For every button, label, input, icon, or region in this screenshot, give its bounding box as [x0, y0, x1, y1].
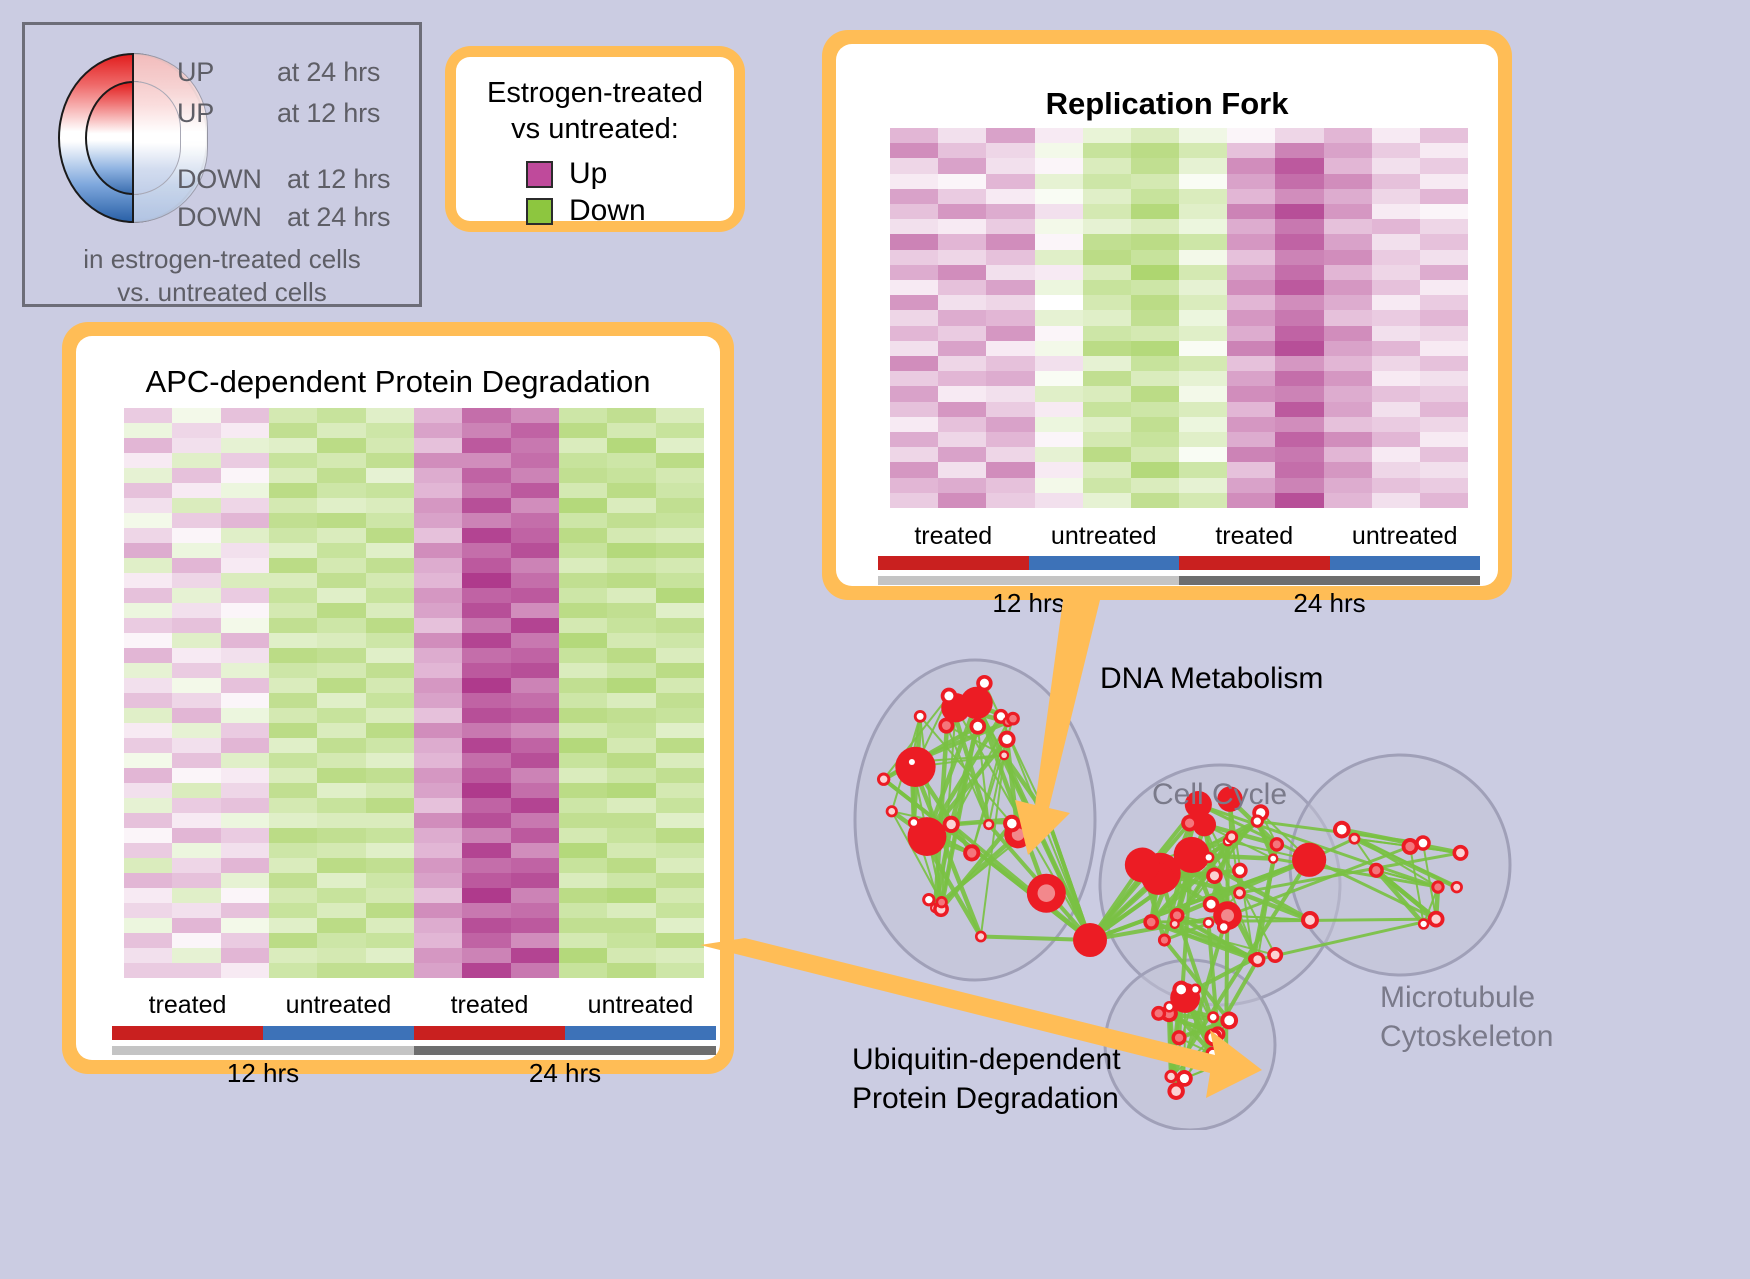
heatmap-cell	[317, 693, 365, 708]
heatmap-cell	[559, 483, 607, 498]
colorwheel-time: at 12 hrs	[287, 164, 390, 194]
heatmap-cell	[124, 648, 172, 663]
heatmap-cell	[414, 903, 462, 918]
heatmap-cell	[1083, 189, 1131, 204]
network-node-core	[1220, 923, 1227, 930]
time-bar-segment	[1179, 576, 1480, 585]
heatmap-cell	[366, 498, 414, 513]
heatmap-cell	[172, 468, 220, 483]
heatmap-cell	[1324, 189, 1372, 204]
heatmap-cell	[938, 128, 986, 143]
heatmap-cell	[511, 558, 559, 573]
heatmap-cell	[414, 933, 462, 948]
heatmap-cell	[1227, 356, 1275, 371]
heatmap-cell	[656, 663, 704, 678]
heatmap-cell	[986, 234, 1034, 249]
heatmap-cell	[511, 723, 559, 738]
cluster-label-cell-cycle: Cell Cycle	[1152, 778, 1287, 812]
heatmap-cell	[124, 873, 172, 888]
heatmap-cell	[559, 423, 607, 438]
heatmap-cell	[890, 478, 938, 493]
heatmap-cell	[511, 843, 559, 858]
heatmap-cell	[656, 618, 704, 633]
network-node-core	[880, 776, 887, 783]
heatmap-cell	[890, 280, 938, 295]
heatmap-cell	[1083, 371, 1131, 386]
heatmap-cell	[1227, 280, 1275, 295]
heatmap-cell	[1131, 462, 1179, 477]
heatmap-cell	[1035, 493, 1083, 508]
heatmap-cell	[1179, 204, 1227, 219]
heatmap-cell	[462, 588, 510, 603]
heatmap-cell	[1324, 432, 1372, 447]
heatmap-cell	[607, 468, 655, 483]
heatmap-cell	[986, 478, 1034, 493]
heatmap-cell	[269, 663, 317, 678]
heatmap-cell	[511, 918, 559, 933]
heatmap-cell	[890, 356, 938, 371]
heatmap-cell	[172, 783, 220, 798]
heatmap-cell	[1372, 128, 1420, 143]
cluster-label-dna-metabolism: DNA Metabolism	[1100, 662, 1323, 696]
heatmap-cell	[269, 648, 317, 663]
heatmap-cell	[656, 933, 704, 948]
heatmap-cell	[366, 723, 414, 738]
heatmap-cell	[124, 828, 172, 843]
heatmap-cell	[269, 918, 317, 933]
heatmap-cell	[462, 618, 510, 633]
heatmap-cell	[124, 468, 172, 483]
heatmap-cell	[414, 783, 462, 798]
colorwheel-term: DOWN	[177, 202, 262, 232]
heatmap-cell	[1420, 432, 1468, 447]
heatmap-cell	[269, 798, 317, 813]
network-node-core	[1434, 883, 1441, 890]
apc-time-bar	[112, 1046, 716, 1055]
heatmap-cell	[890, 432, 938, 447]
heatmap-cell	[1324, 250, 1372, 265]
heatmap-cell	[1131, 386, 1179, 401]
heatmap-cell	[511, 513, 559, 528]
heatmap-cell	[559, 648, 607, 663]
down-color-swatch	[526, 198, 553, 225]
heatmap-cell	[559, 558, 607, 573]
heatmap-cell	[462, 558, 510, 573]
heatmap-cell	[269, 843, 317, 858]
heatmap-cell	[221, 633, 269, 648]
heatmap-cell	[559, 858, 607, 873]
heatmap-cell	[1420, 234, 1468, 249]
heatmap-cell	[172, 408, 220, 423]
heatmap-cell	[607, 963, 655, 978]
heatmap-cell	[221, 573, 269, 588]
heatmap-cell	[1131, 432, 1179, 447]
ubiquitin-line1: Ubiquitin-dependent	[852, 1040, 1121, 1079]
heatmap-cell	[1227, 447, 1275, 462]
heatmap-cell	[607, 483, 655, 498]
network-node-core	[917, 713, 924, 720]
heatmap-cell	[1275, 402, 1323, 417]
heatmap-cell	[269, 723, 317, 738]
heatmap-cell	[1324, 280, 1372, 295]
network-node-core	[1337, 825, 1347, 835]
heatmap-cell	[1275, 265, 1323, 280]
heatmap-cell	[1372, 462, 1420, 477]
heatmap-cell	[607, 663, 655, 678]
heatmap-cell	[656, 873, 704, 888]
heatmap-cell	[124, 483, 172, 498]
heatmap-cell	[172, 858, 220, 873]
heatmap-cell	[269, 708, 317, 723]
network-node-core	[944, 691, 953, 700]
heatmap-cell	[221, 528, 269, 543]
heatmap-cell	[124, 588, 172, 603]
heatmap-cell	[511, 588, 559, 603]
heatmap-cell	[1131, 478, 1179, 493]
heatmap-cell	[366, 813, 414, 828]
heatmap-cell	[607, 648, 655, 663]
network-node-core	[978, 933, 984, 939]
heatmap-cell	[221, 798, 269, 813]
heatmap-cell	[414, 753, 462, 768]
heatmap-cell	[890, 234, 938, 249]
heatmap-cell	[366, 573, 414, 588]
heatmap-cell	[221, 663, 269, 678]
heatmap-cell	[559, 843, 607, 858]
heatmap-cell	[559, 798, 607, 813]
heatmap-cell	[172, 438, 220, 453]
heatmap-cell	[1372, 174, 1420, 189]
heatmap-cell	[607, 573, 655, 588]
heatmap-cell	[1035, 295, 1083, 310]
heatmap-cell	[656, 528, 704, 543]
heatmap-cell	[1227, 128, 1275, 143]
heatmap-cell	[559, 813, 607, 828]
heatmap-cell	[317, 588, 365, 603]
heatmap-cell	[890, 204, 938, 219]
heatmap-cell	[986, 462, 1034, 477]
heatmap-cell	[656, 963, 704, 978]
heatmap-cell	[414, 618, 462, 633]
heatmap-cell	[414, 633, 462, 648]
heatmap-cell	[366, 468, 414, 483]
heatmap-cell	[366, 633, 414, 648]
heatmap-cell	[221, 888, 269, 903]
heatmap-cell	[1035, 250, 1083, 265]
heatmap-cell	[462, 648, 510, 663]
heatmap-cell	[221, 648, 269, 663]
heatmap-cell	[511, 648, 559, 663]
heatmap-cell	[172, 693, 220, 708]
heatmap-cell	[366, 528, 414, 543]
heatmap-cell	[559, 918, 607, 933]
group-label: untreated	[1029, 522, 1180, 551]
heatmap-cell	[414, 438, 462, 453]
heatmap-cell	[366, 828, 414, 843]
heatmap-cell	[269, 873, 317, 888]
heatmap-cell	[366, 693, 414, 708]
heatmap-cell	[1324, 295, 1372, 310]
group-label: treated	[1179, 522, 1330, 551]
heatmap-cell	[317, 858, 365, 873]
heatmap-cell	[607, 408, 655, 423]
network-node-core	[1271, 951, 1280, 960]
network-node-core	[1002, 734, 1012, 744]
heatmap-cell	[511, 933, 559, 948]
heatmap-cell	[124, 798, 172, 813]
heatmap-cell	[124, 513, 172, 528]
heatmap-cell	[607, 678, 655, 693]
heatmap-cell	[559, 873, 607, 888]
treatment-bar-segment	[263, 1026, 414, 1040]
heatmap-cell	[414, 498, 462, 513]
heatmap-cell	[414, 483, 462, 498]
heatmap-cell	[938, 189, 986, 204]
heatmap-cell	[1179, 447, 1227, 462]
heatmap-cell	[221, 933, 269, 948]
heatmap-cell	[1372, 356, 1420, 371]
heatmap-cell	[890, 128, 938, 143]
heatmap-cell	[414, 708, 462, 723]
heatmap-cell	[269, 933, 317, 948]
heatmap-cell	[317, 798, 365, 813]
group-label: treated	[878, 522, 1029, 551]
heatmap-cell	[1372, 158, 1420, 173]
heatmap-cell	[172, 708, 220, 723]
updown-legend-panel: Estrogen-treated vs untreated: Up Down	[445, 46, 745, 232]
heatmap-cell	[986, 493, 1034, 508]
network-node-core	[1210, 1014, 1217, 1021]
colorwheel-caption-line1: in estrogen-treated cells	[25, 243, 419, 276]
heatmap-cell	[1324, 386, 1372, 401]
heatmap-cell	[1131, 341, 1179, 356]
heatmap-cell	[1035, 356, 1083, 371]
heatmap-cell	[511, 738, 559, 753]
heatmap-cell	[414, 813, 462, 828]
colorwheel-caption: in estrogen-treated cells vs. untreated …	[25, 243, 419, 308]
colorwheel-row-down-24: DOWN at 24 hrs	[177, 202, 390, 233]
heatmap-cell	[269, 828, 317, 843]
heatmap-cell	[1083, 417, 1131, 432]
heatmap-cell	[124, 408, 172, 423]
cluster-label-ubiquitin-degradation: Ubiquitin-dependent Protein Degradation	[852, 1040, 1121, 1118]
heatmap-cell	[511, 468, 559, 483]
heatmap-cell	[559, 513, 607, 528]
network-node[interactable]	[1125, 848, 1160, 883]
heatmap-cell	[1372, 295, 1420, 310]
heatmap-cell	[1324, 158, 1372, 173]
heatmap-cell	[1083, 356, 1131, 371]
heatmap-cell	[607, 543, 655, 558]
heatmap-cell	[414, 603, 462, 618]
heatmap-cell	[890, 189, 938, 204]
colorwheel-row-up-12: UP at 12 hrs	[177, 98, 380, 129]
network-node-core	[1419, 839, 1428, 848]
heatmap-cell	[1083, 478, 1131, 493]
network-node-core	[1456, 848, 1465, 857]
heatmap-cell	[269, 603, 317, 618]
heatmap-cell	[559, 723, 607, 738]
heatmap-cell	[172, 948, 220, 963]
heatmap-cell	[559, 678, 607, 693]
heatmap-cell	[559, 573, 607, 588]
heatmap-cell	[366, 768, 414, 783]
heatmap-cell	[1083, 265, 1131, 280]
heatmap-cell	[607, 453, 655, 468]
heatmap-cell	[1324, 143, 1372, 158]
heatmap-cell	[414, 543, 462, 558]
heatmap-cell	[124, 858, 172, 873]
heatmap-cell	[124, 528, 172, 543]
heatmap-cell	[124, 963, 172, 978]
network-node-core	[1001, 752, 1007, 758]
network-node-core	[1208, 1032, 1218, 1042]
heatmap-cell	[221, 768, 269, 783]
heatmap-cell	[1420, 143, 1468, 158]
heatmap-cell	[656, 633, 704, 648]
heatmap-cell	[511, 543, 559, 558]
heatmap-cell	[607, 873, 655, 888]
heatmap-cell	[1372, 386, 1420, 401]
heatmap-cell	[656, 603, 704, 618]
microtubule-line1: Microtubule	[1380, 978, 1553, 1017]
treatment-bar-segment	[1029, 556, 1180, 570]
heatmap-cell	[986, 341, 1034, 356]
heatmap-cell	[269, 618, 317, 633]
heatmap-cell	[462, 663, 510, 678]
heatmap-cell	[1275, 341, 1323, 356]
heatmap-cell	[1227, 189, 1275, 204]
heatmap-cell	[221, 618, 269, 633]
heatmap-cell	[317, 483, 365, 498]
heatmap-cell	[1420, 295, 1468, 310]
network-node[interactable]	[1292, 843, 1326, 877]
heatmap-cell	[172, 723, 220, 738]
heatmap-cell	[1372, 402, 1420, 417]
heatmap-cell	[1179, 417, 1227, 432]
heatmap-cell	[172, 453, 220, 468]
heatmap-cell	[414, 828, 462, 843]
heatmap-cell	[366, 753, 414, 768]
network-node-core	[1273, 840, 1281, 848]
heatmap-cell	[511, 618, 559, 633]
heatmap-cell	[890, 265, 938, 280]
heatmap-cell	[1372, 371, 1420, 386]
heatmap-cell	[317, 543, 365, 558]
heatmap-cell	[172, 588, 220, 603]
treatment-bar-segment	[414, 1026, 565, 1040]
figure-canvas: UP at 24 hrs UP at 12 hrs DOWN at 12 hrs…	[0, 0, 1750, 1279]
heatmap-cell	[938, 356, 986, 371]
heatmap-cell	[124, 438, 172, 453]
heatmap-cell	[366, 678, 414, 693]
heatmap-cell	[607, 813, 655, 828]
heatmap-cell	[511, 408, 559, 423]
heatmap-cell	[938, 295, 986, 310]
heatmap-cell	[1420, 189, 1468, 204]
heatmap-cell	[317, 663, 365, 678]
heatmap-cell	[559, 663, 607, 678]
heatmap-cell	[1324, 128, 1372, 143]
network-node[interactable]	[1073, 923, 1107, 957]
heatmap-cell	[462, 513, 510, 528]
heatmap-cell	[1179, 265, 1227, 280]
heatmap-cell	[656, 918, 704, 933]
replication-fork-time-labels: 12 hrs24 hrs	[878, 588, 1480, 619]
heatmap-cell	[462, 813, 510, 828]
heatmap-cell	[986, 371, 1034, 386]
heatmap-cell	[221, 858, 269, 873]
heatmap-cell	[269, 453, 317, 468]
heatmap-cell	[890, 402, 938, 417]
heatmap-cell	[656, 498, 704, 513]
heatmap-cell	[890, 371, 938, 386]
heatmap-cell	[124, 933, 172, 948]
heatmap-cell	[269, 678, 317, 693]
heatmap-cell	[559, 783, 607, 798]
heatmap-cell	[1275, 326, 1323, 341]
colorwheel-term: DOWN	[177, 164, 262, 194]
heatmap-cell	[559, 618, 607, 633]
heatmap-cell	[1131, 234, 1179, 249]
network-node-core	[1254, 817, 1261, 824]
heatmap-cell	[1420, 478, 1468, 493]
heatmap-cell	[986, 310, 1034, 325]
network-node-core	[1372, 866, 1380, 874]
heatmap-cell	[462, 423, 510, 438]
heatmap-cell	[172, 603, 220, 618]
heatmap-cell	[414, 918, 462, 933]
heatmap-cell	[938, 493, 986, 508]
heatmap-cell	[607, 918, 655, 933]
heatmap-cell	[269, 513, 317, 528]
heatmap-cell	[1420, 174, 1468, 189]
heatmap-cell	[1420, 158, 1468, 173]
network-node-core	[1161, 936, 1168, 943]
heatmap-cell	[1083, 158, 1131, 173]
heatmap-cell	[269, 888, 317, 903]
heatmap-cell	[511, 813, 559, 828]
heatmap-cell	[1372, 189, 1420, 204]
heatmap-cell	[1420, 417, 1468, 432]
network-node[interactable]	[895, 747, 935, 787]
heatmap-cell	[1227, 174, 1275, 189]
colorwheel-time: at 24 hrs	[277, 57, 380, 87]
network-node-core	[1180, 1074, 1189, 1083]
heatmap-cell	[1275, 447, 1323, 462]
heatmap-cell	[938, 250, 986, 265]
heatmap-cell	[124, 573, 172, 588]
heatmap-cell	[172, 663, 220, 678]
updown-legend-title-line2: vs untreated:	[456, 111, 734, 147]
heatmap-cell	[1372, 143, 1420, 158]
heatmap-cell	[607, 843, 655, 858]
heatmap-cell	[656, 888, 704, 903]
heatmap-cell	[1227, 265, 1275, 280]
heatmap-cell	[1227, 402, 1275, 417]
heatmap-cell	[938, 143, 986, 158]
heatmap-cell	[511, 858, 559, 873]
legend-label-up: Up	[569, 157, 607, 191]
colorwheel-time: at 24 hrs	[287, 202, 390, 232]
heatmap-cell	[938, 174, 986, 189]
heatmap-cell	[938, 402, 986, 417]
heatmap-cell	[607, 903, 655, 918]
network-node-core	[1351, 835, 1358, 842]
heatmap-cell	[221, 828, 269, 843]
heatmap-cell	[1179, 356, 1227, 371]
heatmap-cell	[462, 738, 510, 753]
